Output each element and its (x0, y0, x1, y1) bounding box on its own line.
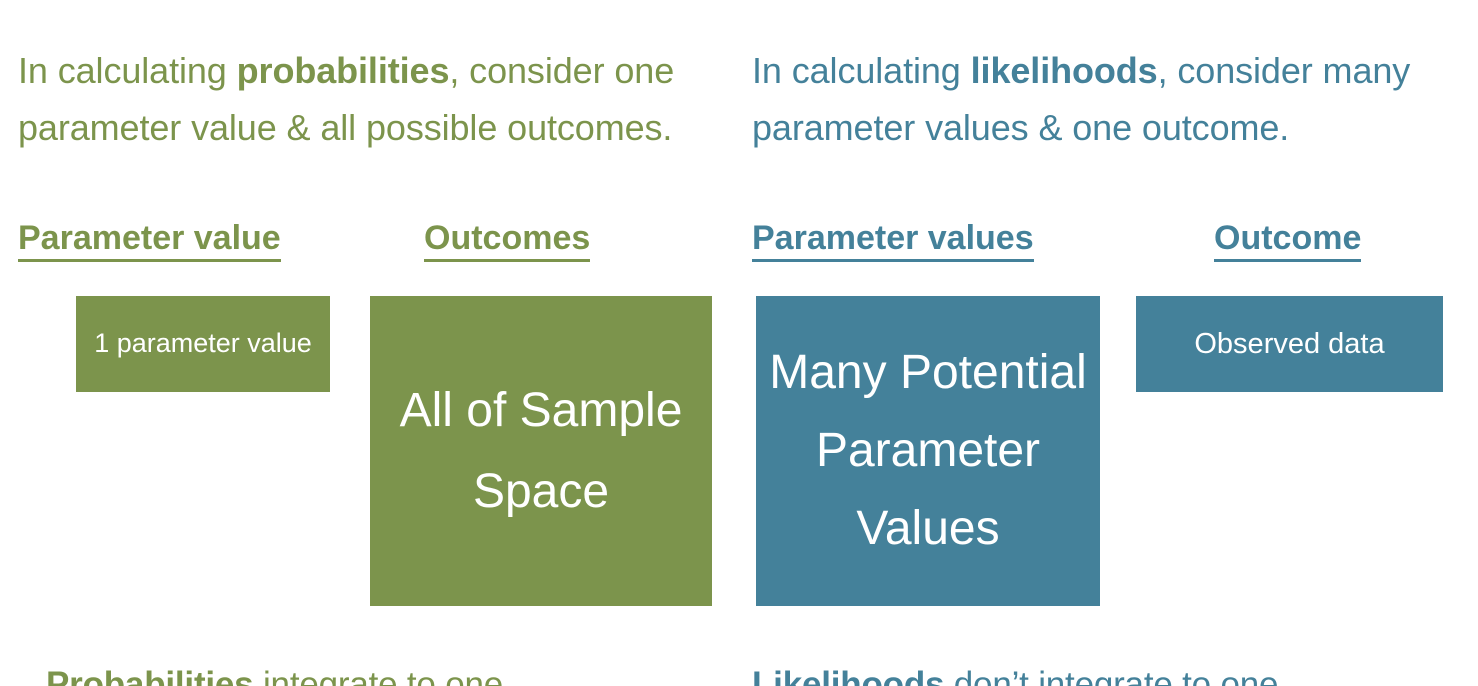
box-all-of-sample-space: All of Sample Space (370, 296, 712, 606)
intro-paragraph-likelihoods: In calculating likelihoods, consider man… (752, 42, 1452, 156)
intro-prefix-probabilities: In calculating (18, 50, 237, 91)
header-parameter-values: Parameter values (752, 218, 1034, 262)
slide-canvas: In calculating probabilities, consider o… (0, 0, 1478, 686)
intro-emphasis-probabilities: probabilities (237, 50, 450, 91)
caption-emphasis-probabilities: Probabilities (46, 665, 253, 686)
intro-prefix-likelihoods: In calculating (752, 50, 971, 91)
box-all-of-sample-space-label: All of Sample Space (370, 370, 712, 532)
caption-emphasis-likelihoods: Likelihoods (752, 665, 944, 686)
caption-likelihoods: Likelihoods don’t integrate to one. (752, 663, 1288, 686)
caption-probabilities: Probabilities integrate to one. (46, 663, 513, 686)
header-outcome: Outcome (1214, 218, 1361, 262)
intro-emphasis-likelihoods: likelihoods (971, 50, 1158, 91)
header-parameter-value: Parameter value (18, 218, 281, 262)
box-many-potential-parameter-values-label: Many Potential Parameter Values (756, 334, 1100, 568)
caption-rest-likelihoods: don’t integrate to one. (944, 665, 1288, 686)
box-one-parameter-value-label: 1 parameter value (76, 324, 330, 362)
header-row-probabilities: Parameter value Outcomes (18, 218, 728, 264)
box-one-parameter-value: 1 parameter value (76, 296, 330, 392)
caption-rest-probabilities: integrate to one. (253, 665, 512, 686)
box-observed-data-label: Observed data (1136, 325, 1443, 363)
header-row-likelihoods: Parameter values Outcome (752, 218, 1452, 264)
header-outcomes: Outcomes (424, 218, 590, 262)
box-observed-data: Observed data (1136, 296, 1443, 392)
box-many-potential-parameter-values: Many Potential Parameter Values (756, 296, 1100, 606)
intro-paragraph-probabilities: In calculating probabilities, consider o… (18, 42, 728, 156)
